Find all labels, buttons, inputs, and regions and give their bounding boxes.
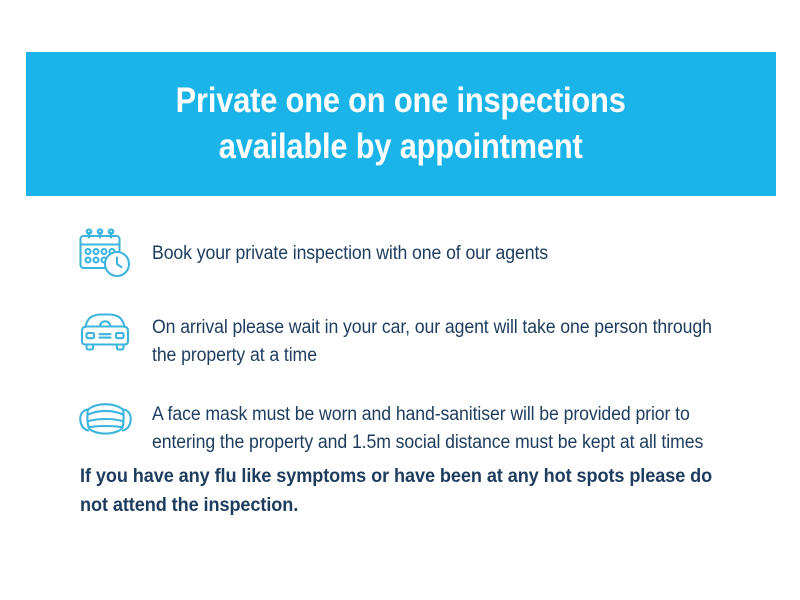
instruction-list: Book your private inspection with one of…: [78, 226, 758, 456]
face-mask-icon: [78, 395, 152, 441]
list-item-text: Book your private inspection with one of…: [152, 226, 716, 268]
list-item: A face mask must be worn and hand-saniti…: [78, 395, 758, 456]
car-front-icon: [78, 308, 152, 354]
banner-title-line-2: available by appointment: [219, 124, 583, 170]
footer-warning-text: If you have any flu like symptoms or hav…: [80, 462, 722, 520]
list-item-text: On arrival please wait in your car, our …: [152, 308, 716, 369]
header-banner: Private one on one inspections available…: [26, 52, 776, 196]
banner-title-line-1: Private one on one inspections: [176, 78, 626, 124]
inspection-notice-poster: Private one on one inspections available…: [0, 0, 800, 600]
list-item: Book your private inspection with one of…: [78, 226, 758, 280]
calendar-clock-icon: [78, 226, 152, 280]
list-item-text: A face mask must be worn and hand-saniti…: [152, 395, 716, 456]
list-item: On arrival please wait in your car, our …: [78, 308, 758, 369]
